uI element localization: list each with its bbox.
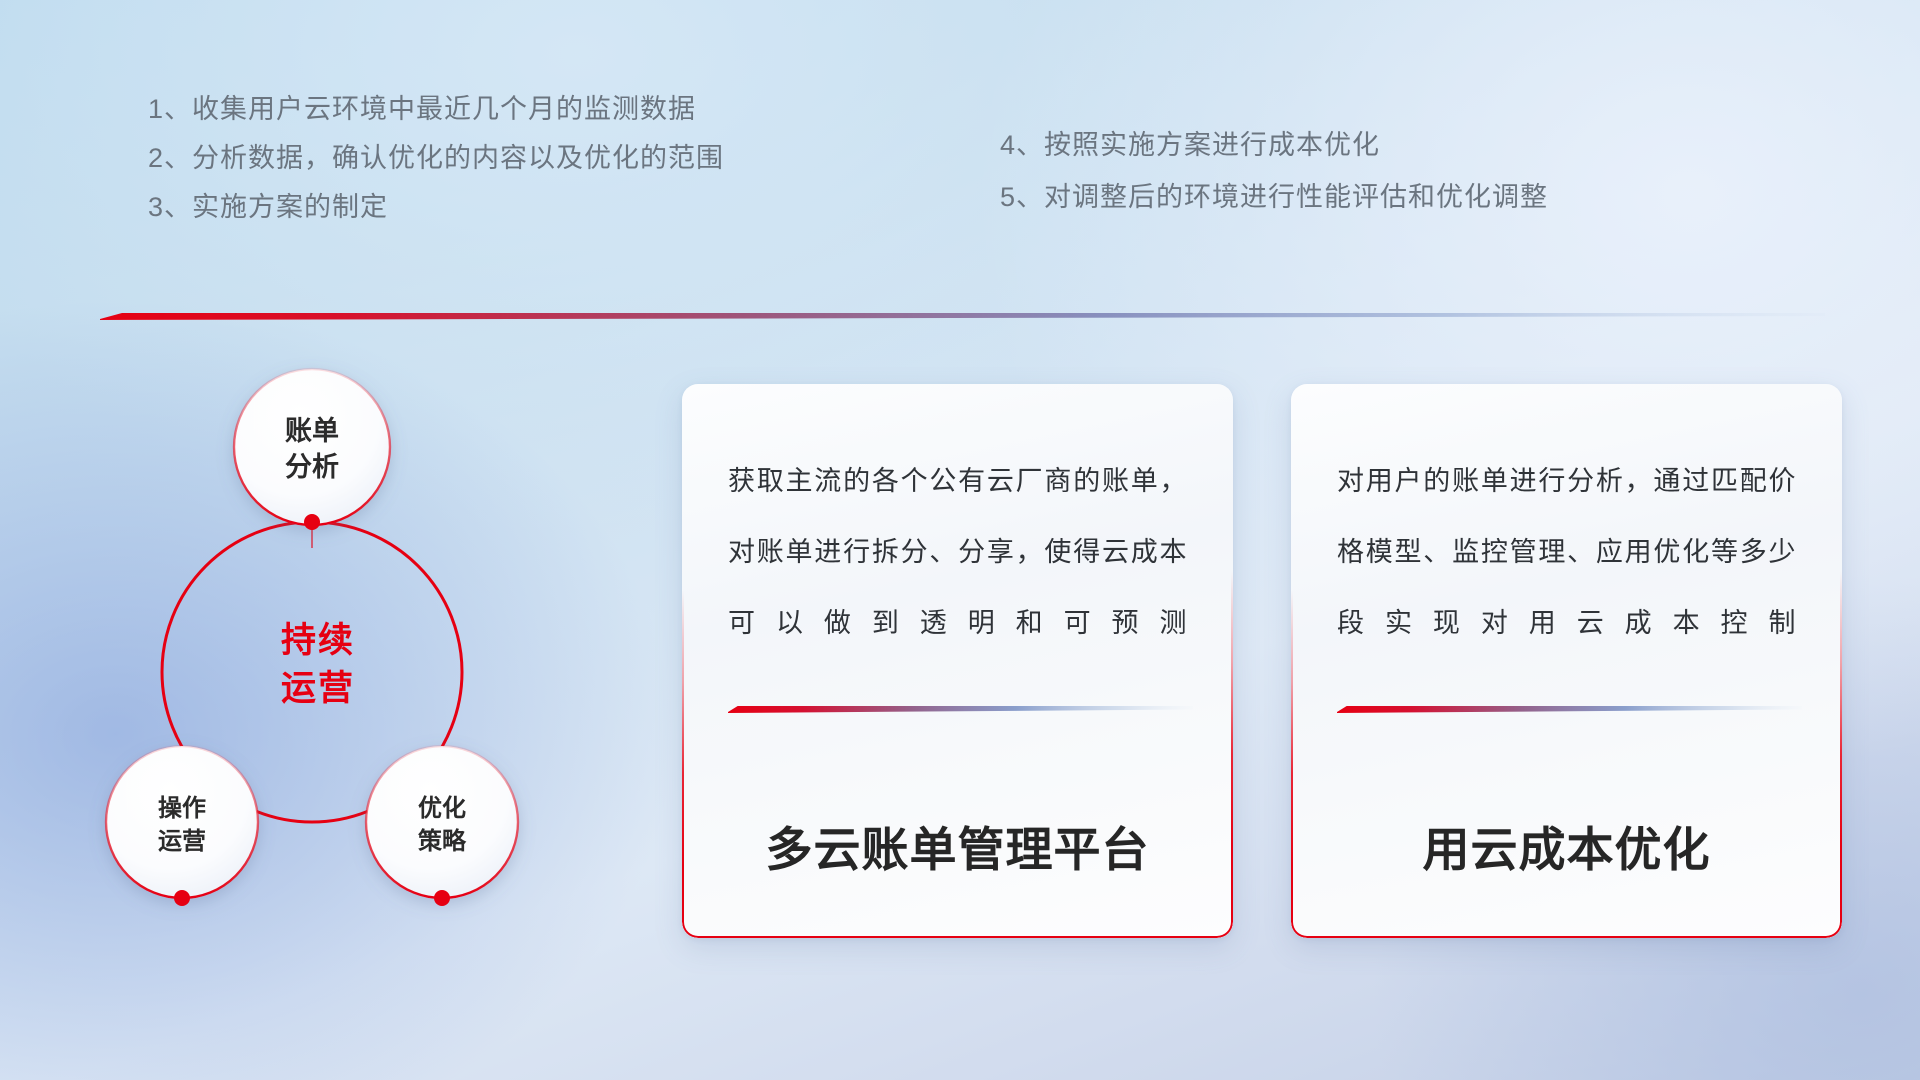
bubble-label-line2: 运营	[158, 828, 206, 855]
steps-column-left: 1、收集用户云环境中最近几个月的监测数据 2、分析数据，确认优化的内容以及优化的…	[148, 96, 724, 243]
steps-column-right: 4、按照实施方案进行成本优化 5、对调整后的环境进行性能评估和优化调整	[1000, 132, 1548, 236]
bubble-operation-ops[interactable]: 操作 运营	[106, 746, 258, 906]
continuous-operation-diagram: 账单 分析 操作 运营 优化 策略 持续 运营	[96, 352, 616, 932]
cards-section: 获取主流的各个公有云厂商的账单，对账单进行拆分、分享，使得云成本可以做到透明和可…	[682, 384, 1842, 938]
bubble-label-line1: 操作	[158, 795, 206, 822]
section-divider	[100, 310, 1825, 320]
card-multi-cloud-billing-platform[interactable]: 获取主流的各个公有云厂商的账单，对账单进行拆分、分享，使得云成本可以做到透明和可…	[682, 384, 1233, 938]
step-item-1: 1、收集用户云环境中最近几个月的监测数据	[148, 96, 724, 123]
card-body-text: 对用户的账单进行分析，通过匹配价格模型、监控管理、应用优化等多少段实现对用云成本…	[1337, 446, 1796, 659]
step-item-2: 2、分析数据，确认优化的内容以及优化的范围	[148, 145, 724, 172]
bubble-optimize-strategy[interactable]: 优化 策略	[366, 746, 518, 906]
bubble-label-line2: 策略	[418, 827, 467, 855]
step-item-4: 4、按照实施方案进行成本优化	[1000, 132, 1548, 159]
card-title: 用云成本优化	[1291, 811, 1842, 880]
bubble-label-line1: 优化	[418, 794, 466, 822]
connector-dot-top	[304, 514, 320, 530]
connector-dot-bottom-right	[434, 890, 450, 906]
step-item-3: 3、实施方案的制定	[148, 194, 724, 221]
card-title: 多云账单管理平台	[682, 811, 1233, 880]
diagram-center-label-line2: 运营	[281, 669, 355, 708]
step-item-5: 5、对调整后的环境进行性能评估和优化调整	[1000, 184, 1548, 211]
card-body-text: 获取主流的各个公有云厂商的账单，对账单进行拆分、分享，使得云成本可以做到透明和可…	[728, 446, 1187, 659]
card-cloud-cost-optimization[interactable]: 对用户的账单进行分析，通过匹配价格模型、监控管理、应用优化等多少段实现对用云成本…	[1291, 384, 1842, 938]
bubble-label-line2: 分析	[285, 452, 339, 482]
card-accent-rule	[728, 704, 1193, 713]
bubble-label-line1: 账单	[285, 416, 339, 446]
steps-section: 1、收集用户云环境中最近几个月的监测数据 2、分析数据，确认优化的内容以及优化的…	[0, 96, 1920, 266]
diagram-center-label-line1: 持续	[281, 621, 355, 660]
card-accent-rule	[1337, 704, 1802, 713]
bubble-bill-analysis[interactable]: 账单 分析	[234, 369, 390, 530]
connector-dot-bottom-left	[174, 890, 190, 906]
